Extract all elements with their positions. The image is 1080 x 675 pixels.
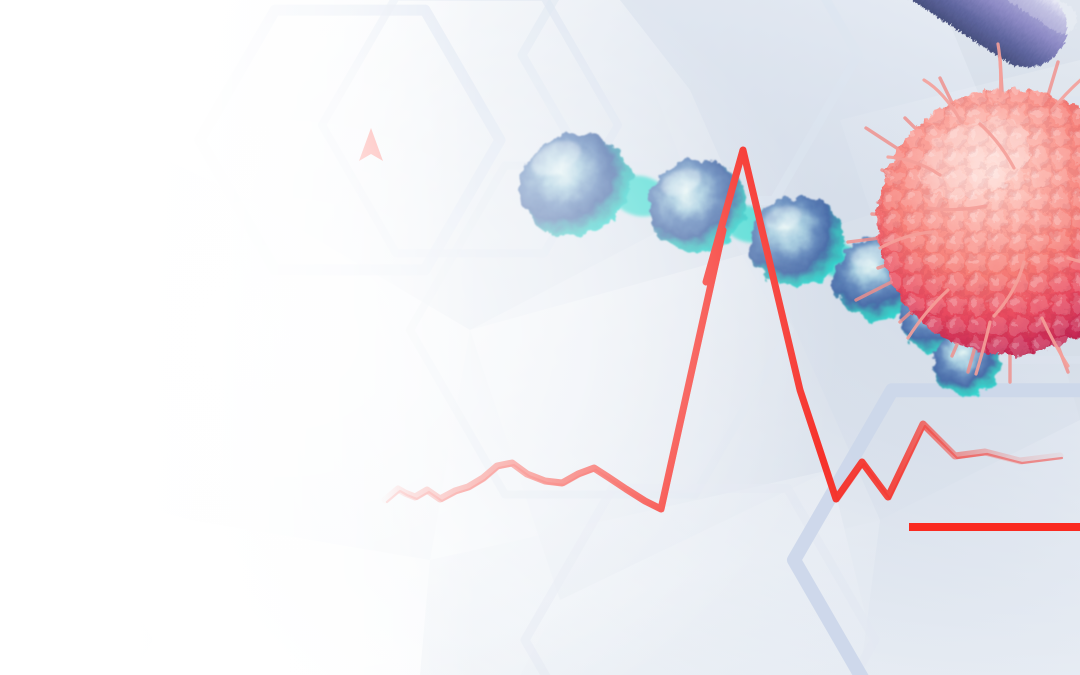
hero-banner-stage (0, 0, 1080, 675)
chart-layer (0, 0, 1080, 675)
y-axis (359, 128, 383, 527)
chart-line-series-infection-trend (385, 150, 1060, 509)
